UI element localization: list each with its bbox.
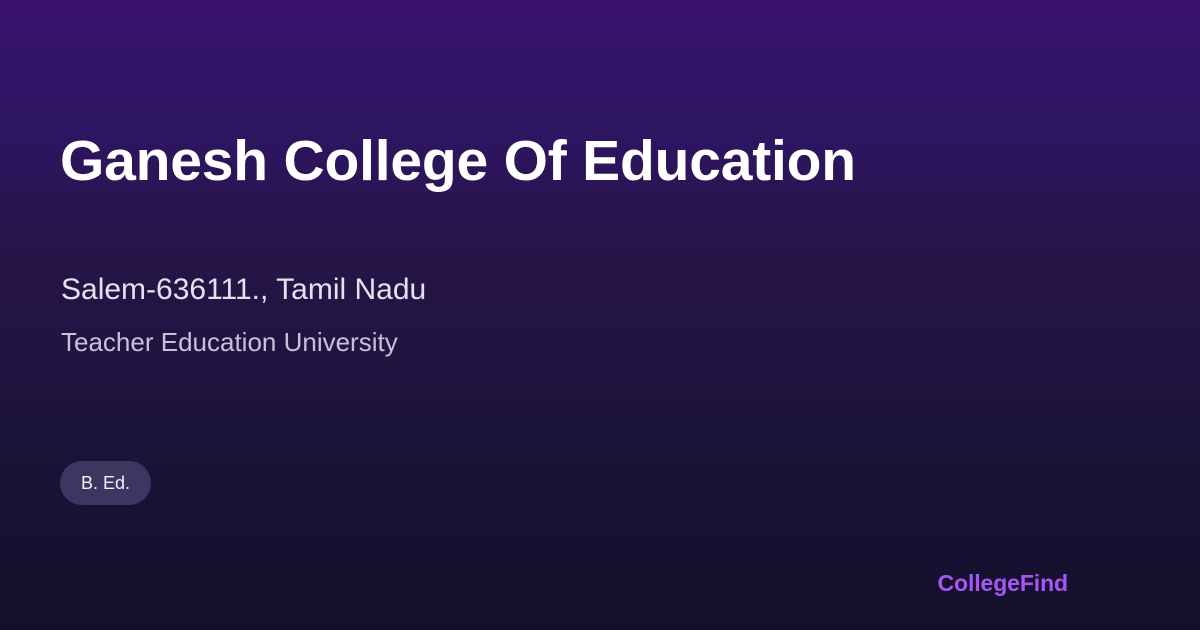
course-tag-badge: B. Ed.: [60, 461, 151, 505]
college-category: Teacher Education University: [61, 326, 398, 358]
brand-logo: CollegeFind: [937, 568, 1068, 598]
tag-list: B. Ed.: [60, 461, 151, 505]
college-og-card: Ganesh College Of Education Salem-636111…: [0, 0, 1200, 630]
card-content: Ganesh College Of Education Salem-636111…: [60, 0, 1060, 630]
college-location: Salem-636111., Tamil Nadu: [61, 272, 426, 308]
page-title: Ganesh College Of Education: [60, 126, 856, 196]
